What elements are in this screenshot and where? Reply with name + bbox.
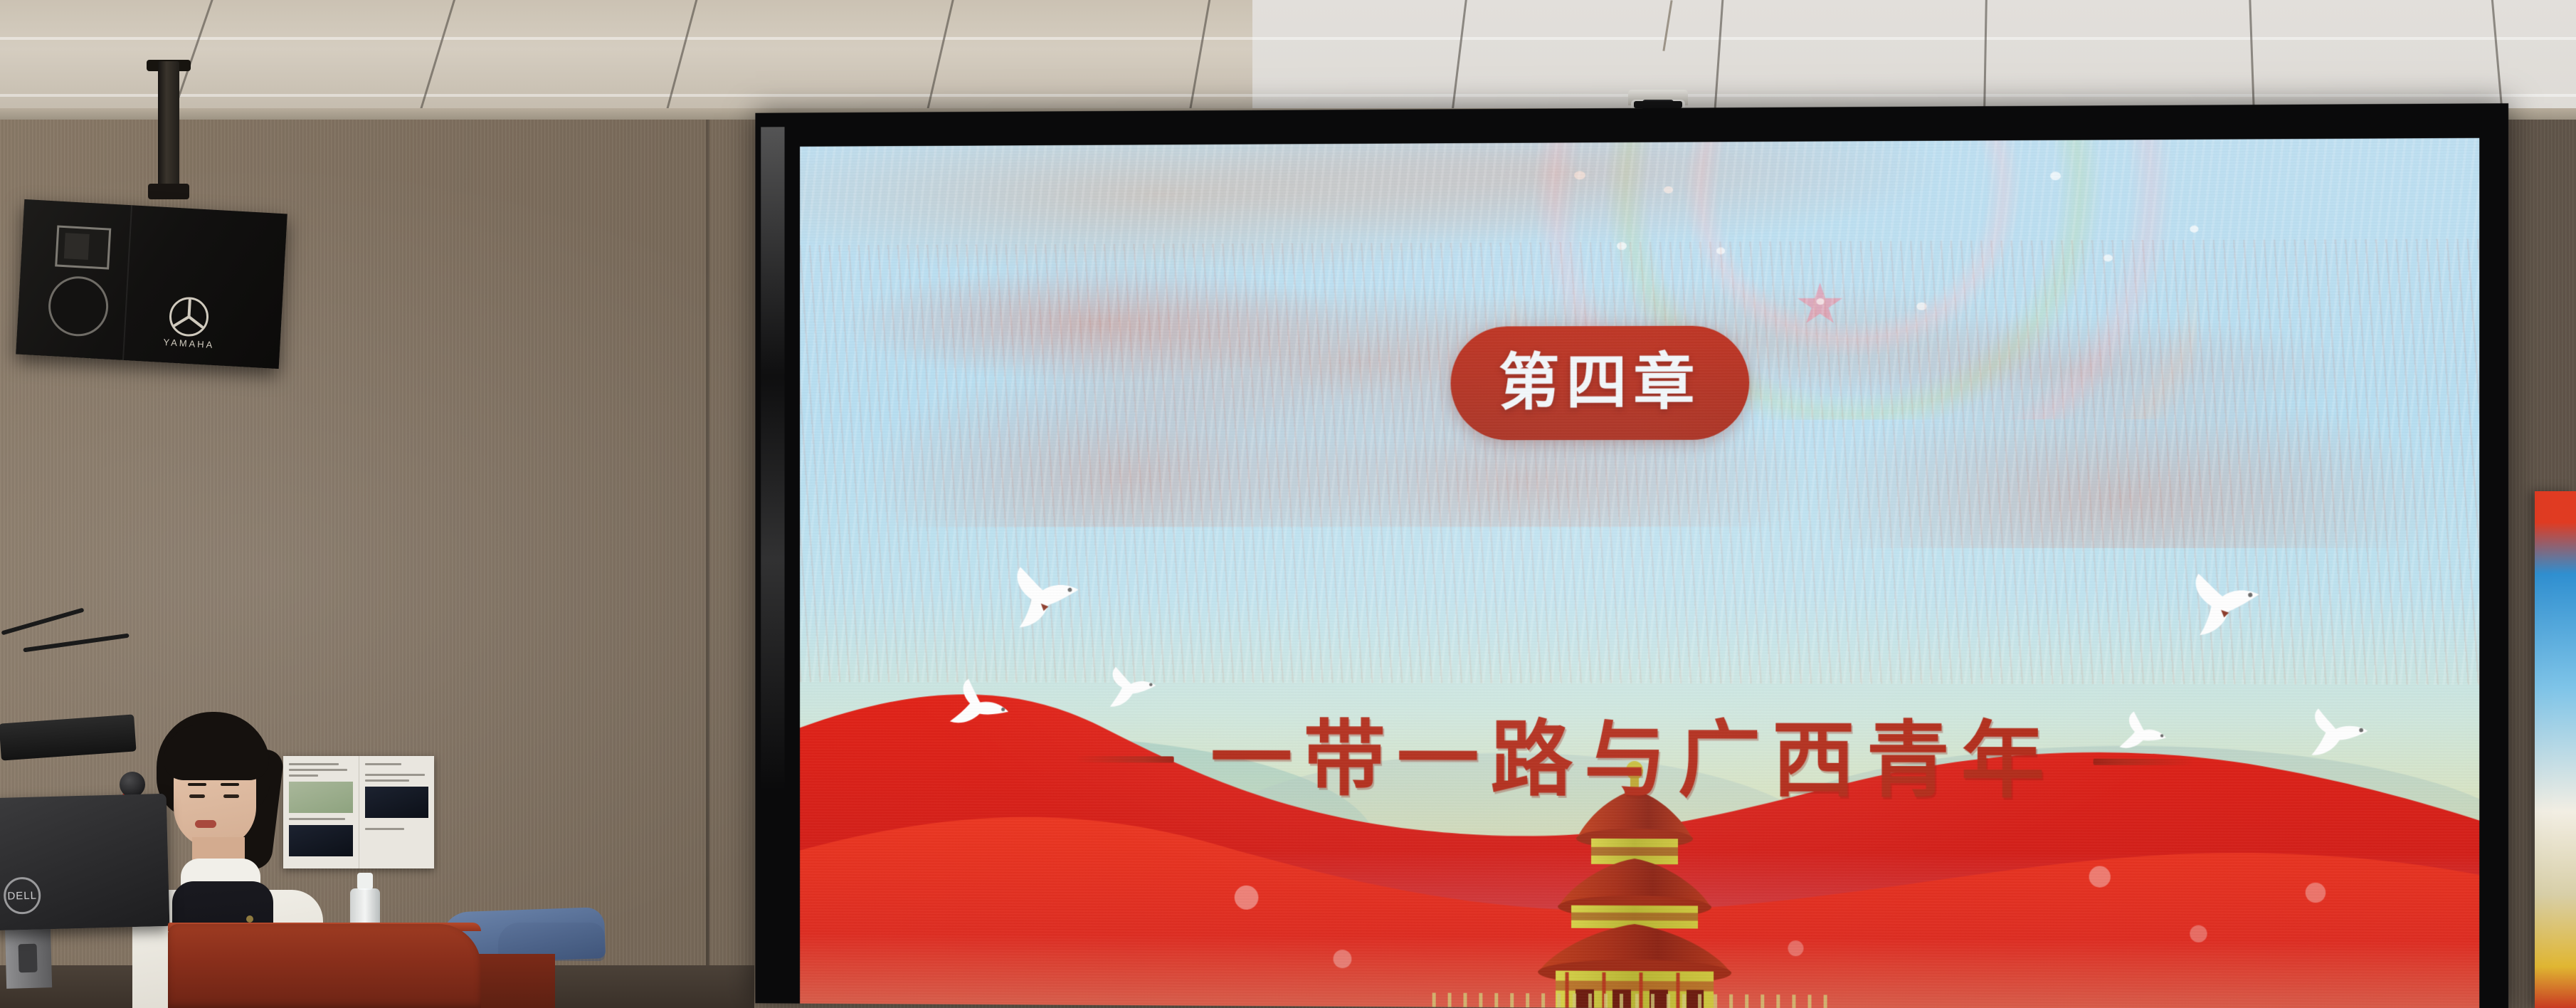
yamaha-speaker: YAMAHA [16, 199, 287, 369]
poster-text-line [365, 828, 404, 830]
speaker-brand-label: YAMAHA [157, 337, 221, 351]
bokeh-dot [2089, 866, 2111, 887]
title-dash-left [1077, 756, 1173, 762]
side-roll-up-banner [2535, 491, 2576, 1008]
slide-title-row: 一带一路与广西青年 [800, 702, 2479, 820]
presenter-eyebrow [188, 783, 206, 786]
speaker-pole-foot [148, 184, 189, 199]
podium-right-section [470, 954, 555, 1008]
ceiling [0, 0, 2576, 122]
bokeh-dot [2306, 883, 2326, 903]
bokeh-dot [1235, 886, 1259, 910]
presenter-eye [223, 794, 239, 798]
presenter-eye [189, 794, 205, 798]
ceiling-seam [0, 37, 2576, 40]
presenter-eyebrow [221, 783, 239, 786]
presentation-slide: 第四章 一带一路与广西青年 [800, 138, 2479, 1008]
ceiling-grid-line [1184, 0, 1212, 122]
ceiling-seam [0, 94, 2576, 97]
title-dash-right [2094, 758, 2193, 765]
poster-text-line [365, 763, 402, 765]
ceiling-grid-line [659, 0, 700, 122]
bottle-cap [357, 873, 373, 890]
yamaha-tuning-fork-icon [167, 294, 211, 339]
chapter-badge: 第四章 [1451, 325, 1750, 440]
speaker-tweeter-icon [55, 225, 111, 269]
presenter-bangs [164, 725, 269, 780]
temple-balustrade [1432, 993, 1831, 1008]
wall-poster-right [359, 756, 435, 868]
poster-text-line [365, 774, 425, 776]
camera-band [1634, 101, 1682, 108]
poster-screenshot-thumb [365, 787, 429, 818]
poster-text-line [365, 779, 410, 782]
vest-button [246, 915, 253, 923]
speaker-mount-pole [158, 61, 179, 196]
bokeh-dot [1334, 950, 1352, 968]
ceiling-grid-line [920, 0, 956, 122]
speaker-woofer-icon [47, 275, 110, 338]
presenter-mouth [195, 820, 216, 828]
podium [168, 924, 481, 1008]
led-display-frame: 第四章 一带一路与广西青年 [755, 103, 2508, 1008]
screenshot-root: YAMAHA [0, 0, 2576, 1008]
chapter-badge-label: 第四章 [1499, 352, 1701, 414]
monitor-stand [5, 922, 52, 989]
bezel-reflection [761, 127, 784, 958]
dell-logo: DELL [4, 876, 41, 914]
gooseneck-mic-head-icon [120, 772, 145, 797]
bokeh-dot [2190, 925, 2207, 943]
speaker-grille-split [122, 205, 132, 360]
bokeh-dot [1788, 940, 1803, 956]
ceiling-grid-line [412, 0, 458, 122]
dell-monitor: DELL [0, 794, 169, 930]
slide-title: 一带一路与广西青年 [1210, 718, 2056, 803]
